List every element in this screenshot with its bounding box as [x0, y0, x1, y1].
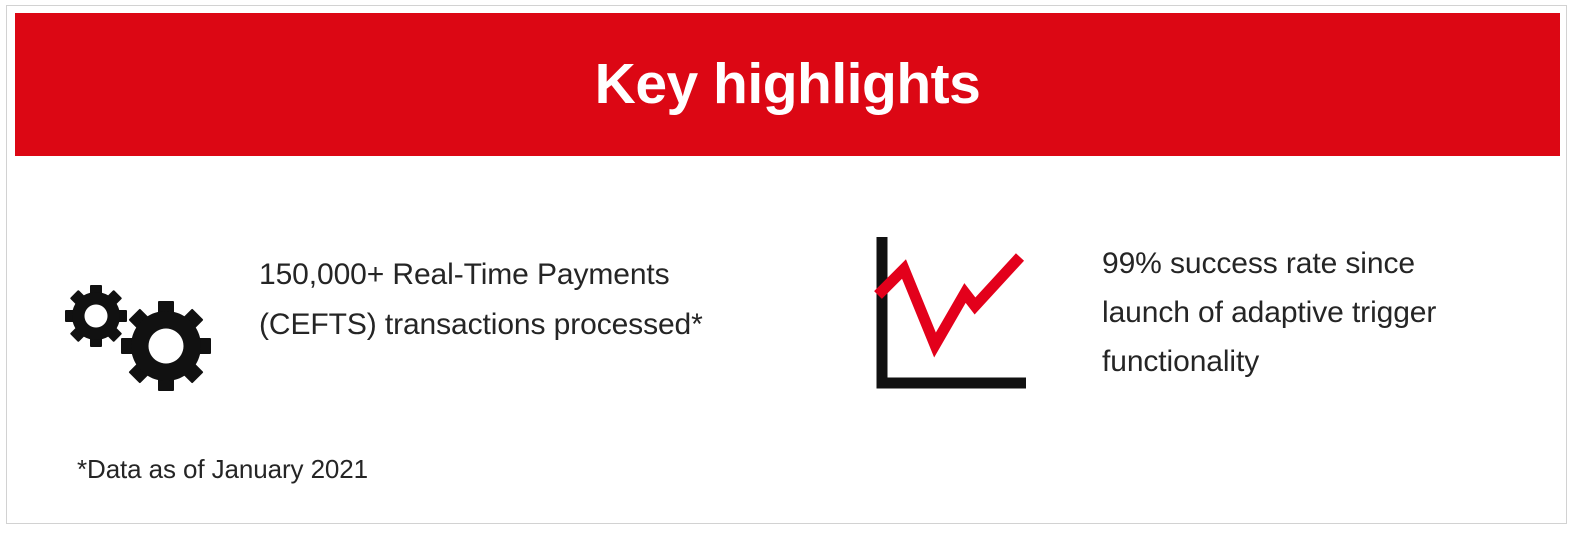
highlight-1-line-2: (CEFTS) transactions processed* — [259, 300, 819, 350]
highlight-1-text: 150,000+ Real-Time Payments (CEFTS) tran… — [259, 250, 819, 350]
page-title: Key highlights — [595, 56, 981, 113]
highlight-1-line-1: 150,000+ Real-Time Payments — [259, 250, 819, 300]
line-chart-icon — [868, 231, 1028, 391]
highlight-2-text: 99% success rate since launch of adaptiv… — [1102, 239, 1532, 386]
highlight-2-line-2: launch of adaptive trigger — [1102, 288, 1532, 337]
highlight-2-line-3: functionality — [1102, 337, 1532, 386]
highlight-2-line-1: 99% success rate since — [1102, 239, 1532, 288]
gears-icon — [62, 283, 218, 391]
slide-canvas: Key highlights — [0, 0, 1580, 536]
title-banner: Key highlights — [15, 13, 1560, 156]
footnote: *Data as of January 2021 — [77, 452, 368, 486]
